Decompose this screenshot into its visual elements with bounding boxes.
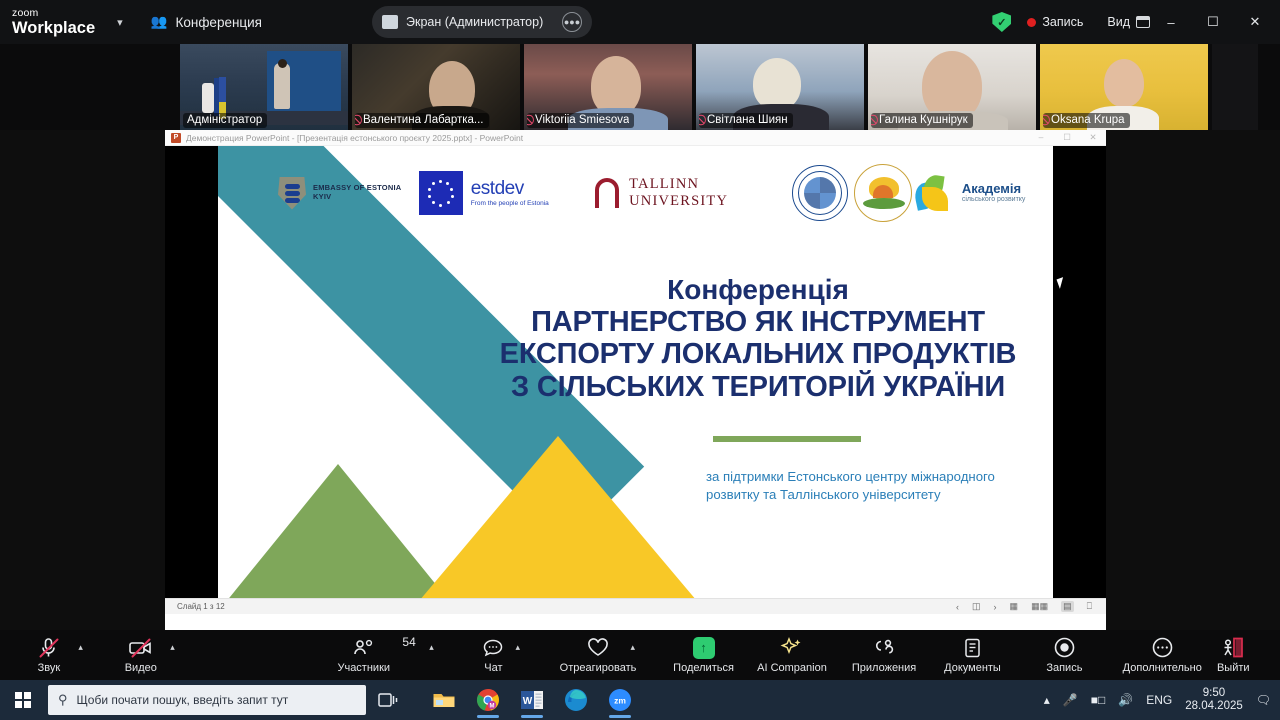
- battery-icon[interactable]: ■□: [1091, 693, 1106, 707]
- participants-count: 54: [402, 635, 415, 649]
- powerpoint-view-controls: ‹ ◫ › ▦ ▦▦ ▤ ⎕: [956, 601, 1092, 612]
- recording-label: Запись: [1042, 15, 1083, 29]
- leave-button[interactable]: Выйти: [1211, 630, 1257, 680]
- participant-name: Viktoriia Smiesova: [535, 114, 629, 126]
- apps-button[interactable]: Приложения: [846, 630, 922, 680]
- leave-door-icon: [1220, 637, 1246, 659]
- akademia-leaf-icon: [915, 173, 955, 213]
- microphone-icon[interactable]: 🎤: [1063, 693, 1078, 707]
- meeting-name-label: Конференция: [176, 15, 263, 30]
- decor-yellow-triangle: [398, 436, 718, 614]
- participant-name-badge: ⃠ Валентина Лабартка...: [355, 113, 489, 128]
- zoom-logo-line1: zoom: [12, 8, 95, 19]
- volume-icon[interactable]: 🔊: [1118, 693, 1133, 707]
- windows-start-icon[interactable]: [0, 680, 46, 720]
- audio-options-caret-icon[interactable]: ▴: [78, 642, 83, 653]
- reactions-button[interactable]: Отреагировать ▴: [557, 630, 639, 680]
- powerpoint-close-button[interactable]: ✕: [1080, 132, 1106, 143]
- video-tile[interactable]: ⃠ Галина Кушнірук: [868, 44, 1036, 130]
- ellipsis-icon[interactable]: ●●●: [562, 12, 582, 32]
- microsoft-word-icon[interactable]: W: [510, 680, 554, 720]
- record-dot-icon: [1027, 18, 1036, 27]
- slide-counter: Слайд 1 з 12: [177, 602, 225, 611]
- chat-button[interactable]: Чат ▴: [480, 630, 507, 680]
- heart-icon: [587, 637, 609, 659]
- search-icon: ⚲: [58, 692, 68, 708]
- zoom-logo-line2: Workplace: [12, 20, 95, 37]
- zoom-app-icon[interactable]: zm: [598, 680, 642, 720]
- slide-logo-row: EMBASSY OF ESTONIA KYIV: [278, 160, 1038, 226]
- recording-indicator[interactable]: Запись: [1027, 15, 1083, 29]
- svg-text:M: M: [490, 704, 495, 710]
- microsoft-edge-icon[interactable]: [554, 680, 598, 720]
- slide-title-line3: ЕКСПОРТУ ЛОКАЛЬНИХ ПРОДУКТІВ: [488, 338, 1028, 371]
- powerpoint-statusbar: Слайд 1 з 12 ‹ ◫ › ▦ ▦▦ ▤ ⎕: [165, 598, 1106, 614]
- chat-caret-icon[interactable]: ▴: [516, 642, 521, 653]
- powerpoint-window-title: Демонстрация PowerPoint - [Презентація е…: [186, 133, 523, 143]
- apps-label: Приложения: [852, 662, 916, 674]
- clock[interactable]: 9:50 28.04.2025: [1185, 687, 1243, 713]
- slide-title-line4: З СІЛЬСЬКИХ ТЕРИТОРІЙ УКРАЇНИ: [488, 371, 1028, 404]
- record-label: Запись: [1046, 662, 1082, 674]
- windows-taskbar: ⚲ Щоби почати пошук, введіть запит тут M…: [0, 680, 1280, 720]
- akademia-logo: Академія сільського розвитку: [915, 173, 1038, 213]
- rural-green-tourism-logo: [852, 164, 915, 222]
- video-tile[interactable]: ⃠ Валентина Лабартка...: [352, 44, 520, 130]
- clock-time: 9:50: [1203, 687, 1225, 699]
- slide-sorter-icon[interactable]: ▦▦: [1031, 601, 1048, 612]
- documents-button[interactable]: Документы: [934, 630, 1010, 680]
- chat-label: Чат: [484, 662, 502, 674]
- clock-date: 28.04.2025: [1185, 700, 1243, 712]
- prev-slide-icon[interactable]: ‹: [956, 602, 959, 612]
- embassy-line2: KYIV: [313, 193, 401, 202]
- titlebar-right-controls: ✓ Запись Вид – ☐ ✕: [992, 0, 1280, 44]
- slide-title-line1: Конференція: [488, 274, 1028, 306]
- participant-video-strip: Адміністратор ⃠ Валентина Лабартка...: [0, 44, 1280, 130]
- people-icon: 👥: [151, 14, 168, 30]
- participants-caret-icon[interactable]: ▴: [429, 642, 434, 653]
- reactions-caret-icon[interactable]: ▴: [630, 642, 635, 653]
- file-explorer-icon[interactable]: [422, 680, 466, 720]
- more-label: Дополнительно: [1123, 662, 1202, 674]
- chat-bubble-icon: [483, 637, 503, 659]
- participant-name: Світлана Шиян: [707, 114, 788, 126]
- estdev-logo: estdev From the people of Estonia: [419, 171, 595, 215]
- notification-icon[interactable]: 🗨: [1256, 693, 1271, 707]
- powerpoint-minimize-button[interactable]: –: [1028, 132, 1054, 143]
- video-label: Видео: [125, 662, 157, 674]
- powerpoint-restore-button[interactable]: ☐: [1054, 132, 1080, 143]
- search-input[interactable]: ⚲ Щоби почати пошук, введіть запит тут: [48, 685, 366, 715]
- documents-label: Документы: [944, 662, 1001, 674]
- zoom-titlebar: zoom Workplace ▾ 👥 Конференция Экран (Ад…: [0, 0, 1280, 44]
- video-tile-empty: [1212, 44, 1258, 130]
- svg-text:W: W: [523, 696, 533, 707]
- record-circle-icon: [1054, 637, 1075, 659]
- audio-label: Звук: [38, 662, 61, 674]
- share-screen-button[interactable]: ↑ Поделиться: [669, 630, 738, 680]
- system-tray: ▴ 🎤 ■□ 🔊 ENG 9:50 28.04.2025 🗨: [1044, 687, 1271, 713]
- eu-flag-icon: [419, 171, 463, 215]
- estdev-wordmark: estdev: [471, 179, 549, 199]
- slide-subtitle: за підтримки Естонського центру міжнарод…: [706, 468, 1051, 504]
- participant-name-badge: Адміністратор: [183, 113, 267, 128]
- estdev-tagline: From the people of Estonia: [471, 201, 549, 208]
- slide-divider: [713, 436, 861, 442]
- powerpoint-titlebar: P Демонстрация PowerPoint - [Презентація…: [165, 130, 1106, 146]
- participant-name: Валентина Лабартка...: [363, 114, 484, 126]
- slideshow-icon[interactable]: ⎕: [1087, 601, 1092, 612]
- zoom-meeting-toolbar: Звук ▴ Видео ▴ Участники 54 ▴ Чат ▴: [0, 630, 1280, 680]
- tallinn-arch-icon: [595, 178, 619, 208]
- participant-name-badge: ⃠ Viktoriia Smiesova: [527, 113, 634, 128]
- screen-share-icon: [382, 15, 398, 29]
- tallinn-university-wordmark: TALLINN UNIVERSITY: [629, 176, 788, 210]
- camera-muted-icon: [129, 637, 153, 659]
- chevron-down-icon[interactable]: ▾: [117, 16, 123, 29]
- university-seal-logo: [788, 165, 851, 221]
- powerpoint-window[interactable]: P Демонстрация PowerPoint - [Презентація…: [165, 130, 1106, 630]
- google-chrome-icon[interactable]: M: [466, 680, 510, 720]
- chevron-up-icon[interactable]: ▴: [1044, 693, 1050, 707]
- slide-title: Конференція ПАРТНЕРСТВО ЯК ІНСТРУМЕНТ ЕК…: [488, 274, 1028, 404]
- minimize-button[interactable]: –: [1150, 0, 1192, 44]
- next-slide-icon[interactable]: ›: [994, 602, 997, 612]
- audio-button[interactable]: Звук ▴: [28, 630, 70, 680]
- tallinn-university-logo: TALLINN UNIVERSITY: [595, 176, 789, 210]
- zoom-logo: zoom Workplace: [12, 8, 95, 36]
- embassy-of-estonia-logo: EMBASSY OF ESTONIA KYIV: [278, 177, 419, 210]
- encryption-shield-icon[interactable]: ✓: [992, 12, 1011, 32]
- slide-1[interactable]: EMBASSY OF ESTONIA KYIV: [218, 146, 1053, 614]
- sparkle-icon: [780, 637, 804, 659]
- akademia-line1: Академія: [962, 182, 1026, 197]
- language-indicator[interactable]: ENG: [1146, 693, 1172, 707]
- video-tile[interactable]: ⃠ Oksana Krupa: [1040, 44, 1208, 130]
- ellipsis-circle-icon: [1152, 637, 1173, 659]
- share-screen-icon: ↑: [693, 637, 715, 659]
- participant-name: Oksana Krupa: [1051, 114, 1125, 126]
- svg-text:zm: zm: [614, 696, 626, 706]
- participant-name-badge: ⃠ Світлана Шиян: [699, 113, 793, 128]
- reactions-label: Отреагировать: [560, 662, 637, 674]
- akademia-line2: сільського розвитку: [962, 196, 1026, 204]
- screen-share-label: Экран (Администратор): [406, 15, 543, 29]
- ai-companion-label: AI Companion: [757, 662, 827, 674]
- powerpoint-window-controls: – ☐ ✕: [1028, 132, 1106, 143]
- estonia-coat-of-arms-icon: [278, 177, 306, 210]
- desktop-screen: zoom Workplace ▾ 👥 Конференция Экран (Ад…: [0, 0, 1280, 720]
- view-button[interactable]: Вид: [1107, 15, 1150, 29]
- task-view-icon[interactable]: [366, 680, 410, 720]
- people-icon: [353, 637, 375, 659]
- ai-companion-button[interactable]: AI Companion: [750, 630, 834, 680]
- restore-button[interactable]: ☐: [1192, 0, 1234, 44]
- university-seal-icon: [792, 165, 848, 221]
- search-placeholder: Щоби почати пошук, введіть запит тут: [77, 693, 289, 707]
- participant-name: Галина Кушнірук: [879, 114, 968, 126]
- video-tile[interactable]: Адміністратор: [180, 44, 348, 130]
- rural-tourism-seal-icon: [854, 164, 912, 222]
- powerpoint-icon: P: [171, 133, 181, 143]
- record-button[interactable]: Запись: [1041, 630, 1088, 680]
- more-button[interactable]: Дополнительно: [1114, 630, 1210, 680]
- participants-label: Участники: [337, 662, 390, 674]
- video-button[interactable]: Видео ▴: [120, 630, 162, 680]
- video-options-caret-icon[interactable]: ▴: [170, 642, 175, 653]
- participants-button[interactable]: Участники 54 ▴: [334, 630, 394, 680]
- document-icon: [964, 637, 981, 659]
- view-label: Вид: [1107, 15, 1130, 29]
- close-button[interactable]: ✕: [1234, 0, 1276, 44]
- microphone-muted-icon: [40, 637, 57, 659]
- meeting-name[interactable]: 👥 Конференция: [151, 14, 262, 30]
- reading-view-icon[interactable]: ▤: [1061, 601, 1074, 612]
- participant-name-badge: ⃠ Oksana Krupa: [1043, 113, 1130, 128]
- share-screen-label: Поделиться: [673, 662, 734, 674]
- screen-share-indicator[interactable]: Экран (Администратор) ●●●: [372, 6, 592, 38]
- video-tile[interactable]: ⃠ Viktoriia Smiesova: [524, 44, 692, 130]
- notes-icon[interactable]: ◫: [972, 601, 981, 612]
- slide-title-line2: ПАРТНЕРСТВО ЯК ІНСТРУМЕНТ: [488, 306, 1028, 339]
- layout-grid-icon: [1136, 16, 1150, 28]
- normal-view-icon[interactable]: ▦: [1010, 601, 1019, 612]
- powerpoint-canvas: EMBASSY OF ESTONIA KYIV: [165, 146, 1106, 614]
- video-tiles: Адміністратор ⃠ Валентина Лабартка...: [180, 44, 1258, 130]
- apps-icon: [873, 637, 895, 659]
- participant-name-badge: ⃠ Галина Кушнірук: [871, 113, 973, 128]
- leave-label: Выйти: [1217, 662, 1250, 674]
- video-tile[interactable]: ⃠ Світлана Шиян: [696, 44, 864, 130]
- participant-name: Адміністратор: [187, 114, 262, 126]
